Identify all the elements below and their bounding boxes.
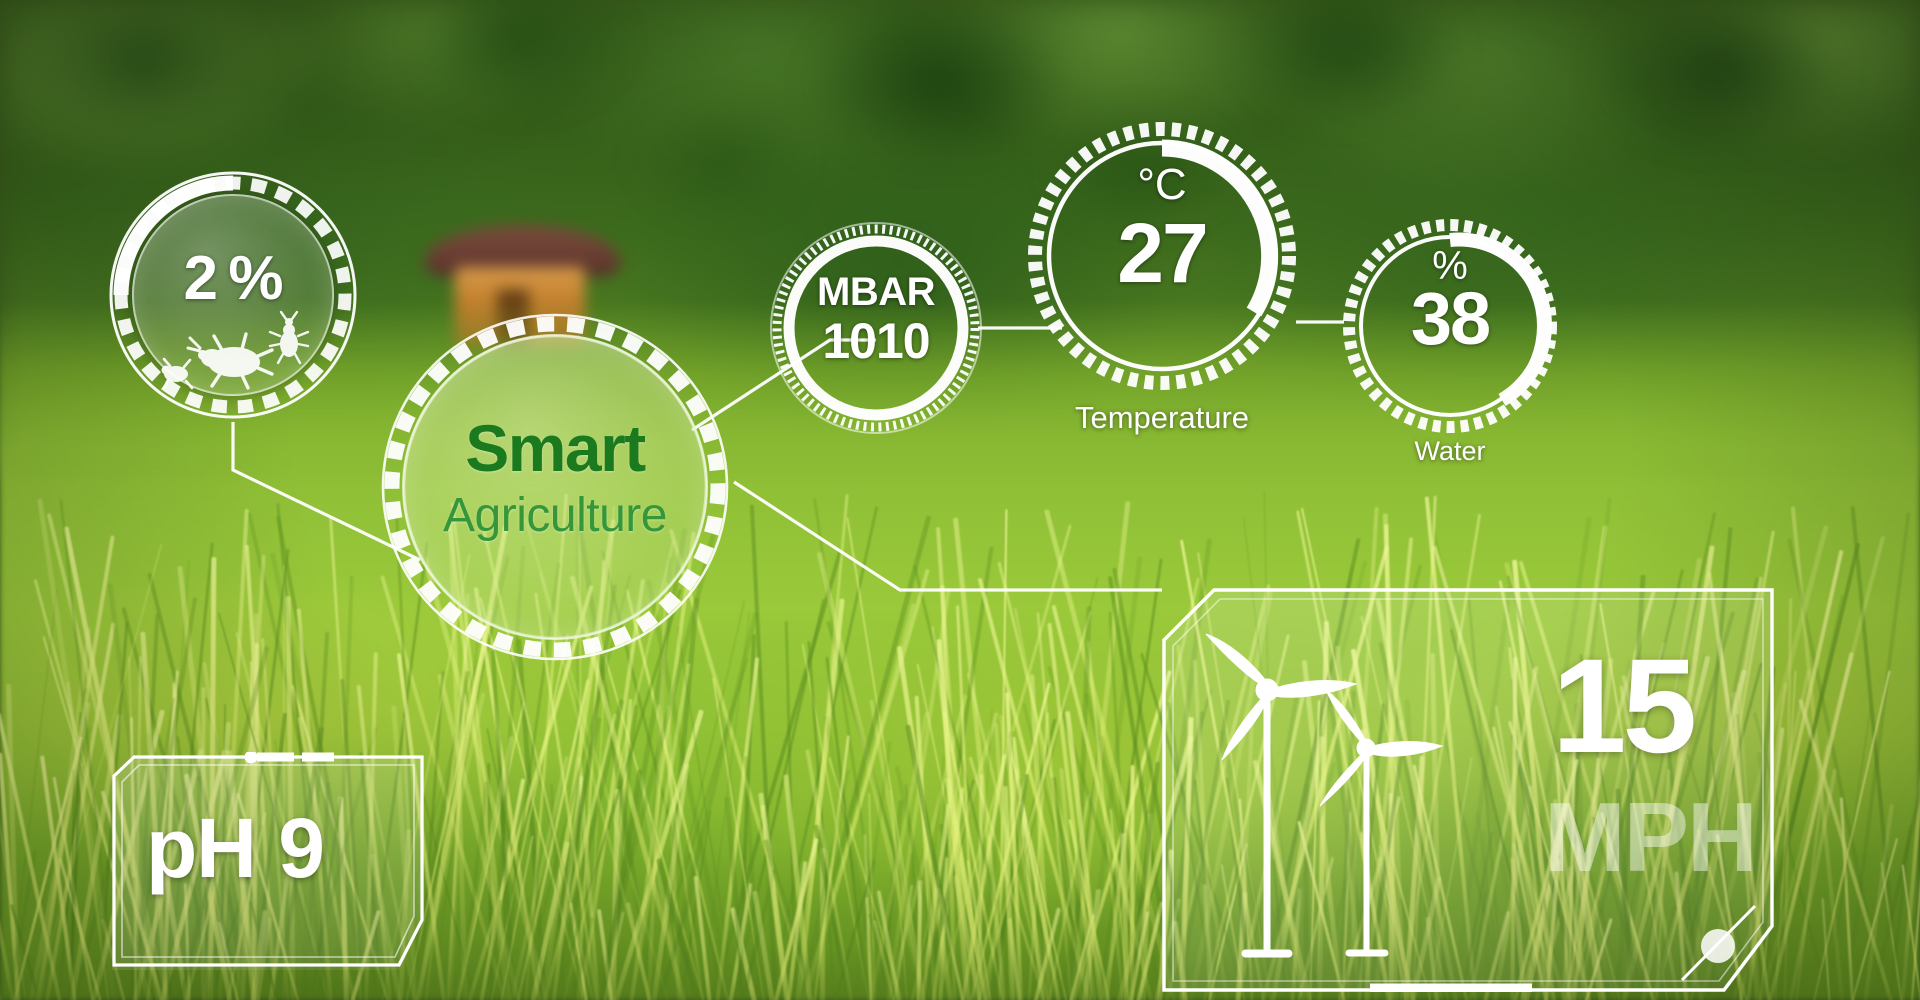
wind-unit: MPH <box>1544 788 1756 886</box>
temperature-gauge[interactable]: °C 27 Temperature <box>1028 122 1296 390</box>
temperature-value: 27 <box>1028 214 1296 294</box>
pressure-gauge[interactable]: MBAR 1010 <box>770 222 982 434</box>
temperature-unit: °C <box>1028 160 1296 210</box>
pressure-value: 1010 <box>770 318 982 366</box>
temperature-label: Temperature <box>1028 400 1296 436</box>
wind-turbine-icon <box>1180 626 1510 966</box>
wind-value: 15 <box>1552 640 1693 774</box>
ph-value: pH 9 <box>146 800 324 897</box>
ph-panel[interactable]: pH 9 <box>112 752 424 970</box>
water-label: Water <box>1342 436 1558 467</box>
water-value: 38 <box>1342 284 1558 354</box>
hub-title-line2: Agriculture <box>378 488 732 543</box>
hub-title-line1: Smart <box>378 410 732 486</box>
hud-overlay: 2 % <box>0 0 1920 1000</box>
insect-icon <box>162 318 312 388</box>
wind-speed-panel[interactable]: 15 MPH <box>1162 588 1774 992</box>
pest-value: 2 % <box>106 250 360 309</box>
pest-level-gauge[interactable]: 2 % <box>106 168 360 422</box>
smart-agriculture-hub[interactable]: Smart Agriculture <box>378 310 732 664</box>
pressure-unit: MBAR <box>770 270 982 315</box>
hub-glass-face <box>402 334 708 640</box>
water-gauge[interactable]: % 38 Water <box>1342 218 1558 434</box>
